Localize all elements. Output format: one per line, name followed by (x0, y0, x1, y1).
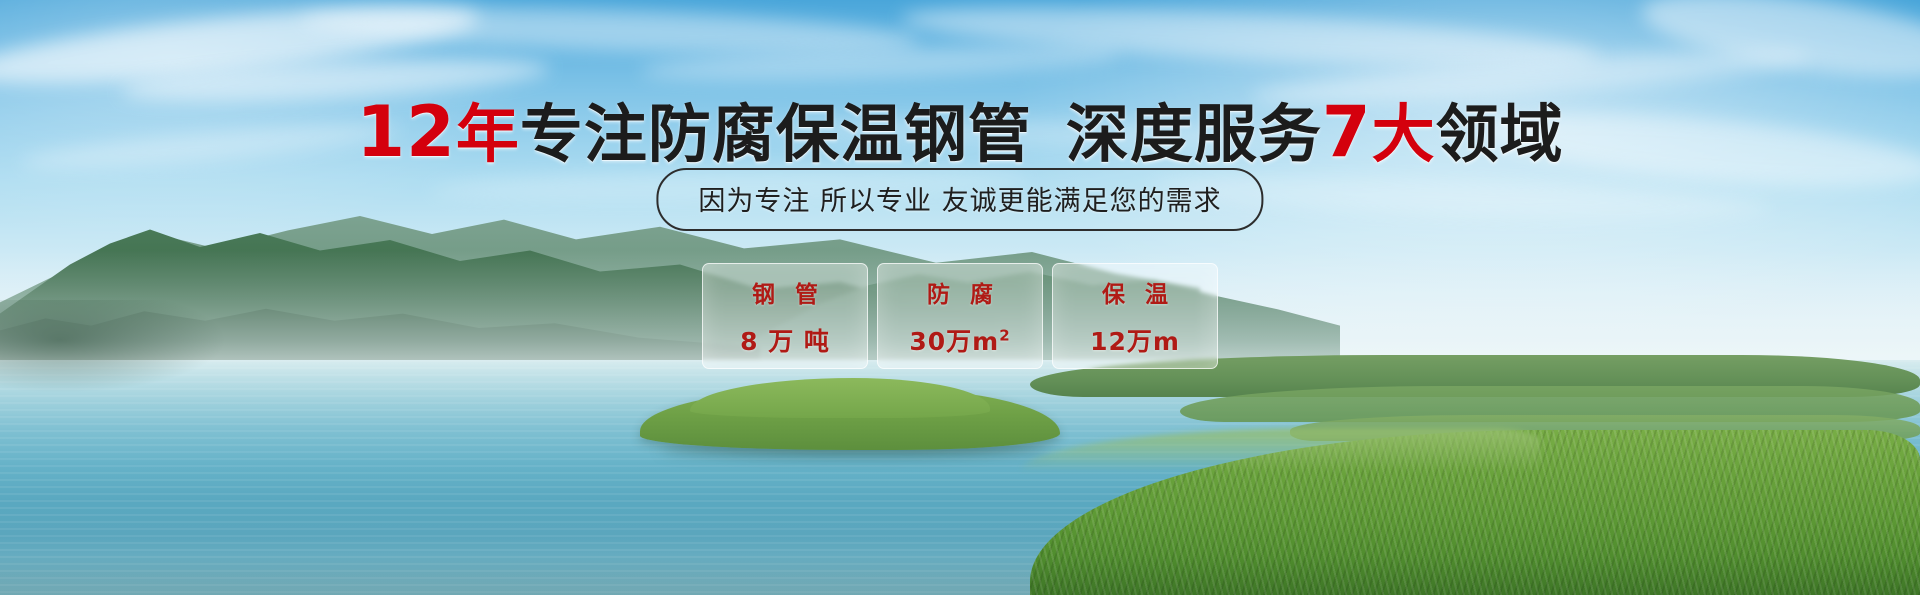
stat-card-insulation[interactable]: 保 温 12万m (1052, 263, 1218, 369)
headline-fields-unit: 大 (1372, 98, 1436, 171)
headline-middle: 专注防腐保温钢管 (520, 98, 1032, 171)
stat-card-anticorrosion[interactable]: 防 腐 30万m2 (877, 263, 1043, 369)
banner-subtitle-pill: 因为专注 所以专业 友诚更能满足您的需求 (656, 168, 1263, 231)
stat-card-value: 8 万 吨 (740, 322, 830, 358)
headline-service: 深度服务 (1066, 98, 1322, 171)
hero-banner: 12年专注防腐保温钢管深度服务7大领域 因为专注 所以专业 友诚更能满足您的需求… (0, 0, 1920, 595)
stat-card-label: 防 腐 (921, 275, 999, 309)
stat-card-value: 12万m (1090, 322, 1180, 358)
shore-shadow (0, 300, 300, 420)
headline-fields-number: 7 (1322, 91, 1372, 173)
stat-card-label: 钢 管 (746, 275, 824, 309)
stat-card-steel-pipe[interactable]: 钢 管 8 万 吨 (702, 263, 868, 369)
stat-value-text: 30万m (909, 327, 999, 356)
headline-years-unit: 年 (456, 98, 520, 171)
stat-value-exponent: 2 (999, 326, 1010, 344)
headline-years-number: 12 (356, 91, 455, 173)
stat-card-group: 钢 管 8 万 吨 防 腐 30万m2 保 温 12万m (702, 263, 1218, 369)
banner-headline: 12年专注防腐保温钢管深度服务7大领域 (0, 84, 1920, 175)
stat-value-text: 12万m (1090, 327, 1180, 356)
stat-value-text: 8 万 吨 (740, 327, 830, 356)
stat-card-label: 保 温 (1096, 275, 1174, 309)
headline-suffix: 领域 (1436, 98, 1564, 171)
stat-card-value: 30万m2 (909, 322, 1010, 358)
